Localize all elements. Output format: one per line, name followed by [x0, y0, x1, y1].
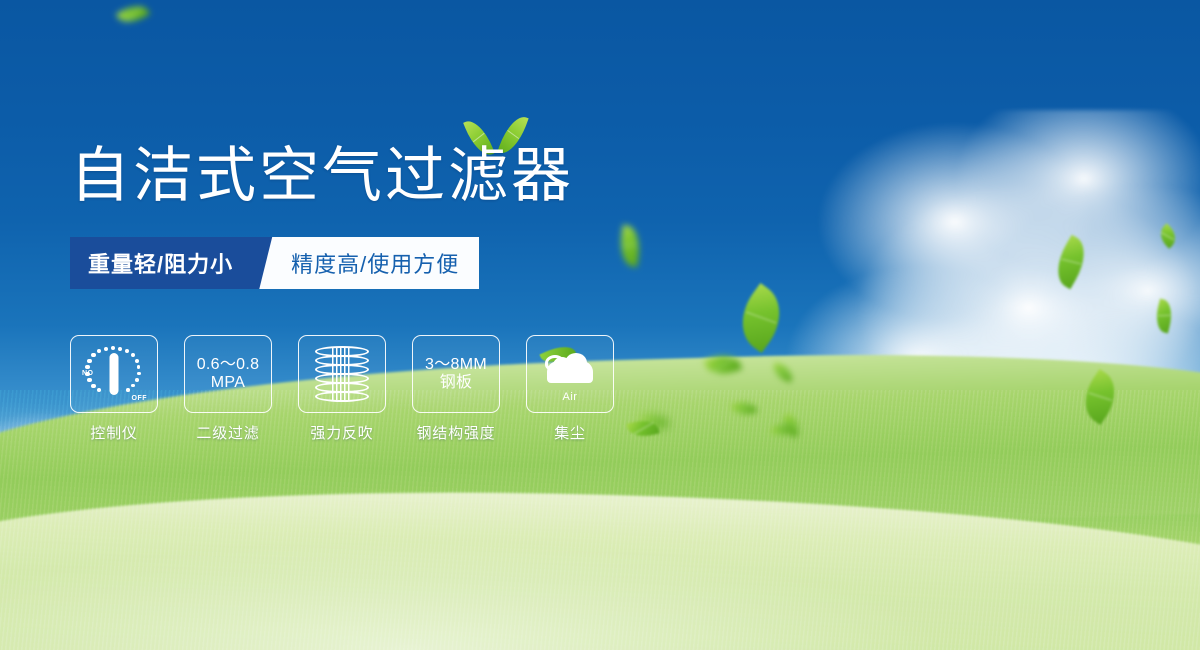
feature-list: NO OFF 控制仪 0.6～0.8 MPA 二级过滤 — [70, 335, 614, 443]
pressure-text-icon: 0.6～0.8 MPA — [197, 356, 260, 392]
subtitle-bar: 重量轻/阻力小 精度高/使用方便 — [70, 237, 479, 289]
feature-caption: 集尘 — [554, 422, 586, 443]
feature-item-control[interactable]: NO OFF 控制仪 — [70, 335, 158, 443]
subtitle-right-segment: 精度高/使用方便 — [285, 237, 479, 289]
feature-item-filter[interactable]: 0.6～0.8 MPA 二级过滤 — [184, 335, 272, 443]
feature-caption: 控制仪 — [90, 422, 137, 443]
feature-text-line2: 钢板 — [425, 374, 487, 392]
cloud-swirl — [545, 355, 565, 371]
page-title: 自洁式空气过滤器 — [70, 146, 574, 206]
feature-icon-box: Air — [526, 335, 614, 413]
feature-caption: 二级过滤 — [196, 422, 259, 443]
feature-item-dust[interactable]: Air 集尘 — [526, 335, 614, 443]
subtitle-divider — [251, 237, 285, 289]
gauge-needle — [110, 353, 119, 395]
steel-text-icon: 3～8MM 钢板 — [425, 356, 487, 392]
feature-caption: 强力反吹 — [310, 422, 373, 443]
subtitle-left-segment: 重量轻/阻力小 — [70, 237, 251, 289]
feature-text-line2: MPA — [197, 374, 260, 392]
air-cloud-icon: Air — [539, 347, 601, 401]
gauge-icon: NO OFF — [83, 344, 145, 404]
air-label: Air — [539, 391, 601, 403]
feature-text-line1: 3～8MM — [425, 356, 487, 373]
feature-icon-box: NO OFF — [70, 335, 158, 413]
gauge-label-off: OFF — [132, 395, 148, 402]
feature-caption: 钢结构强度 — [416, 422, 495, 443]
feature-item-steel[interactable]: 3～8MM 钢板 钢结构强度 — [412, 335, 500, 443]
feature-item-blowback[interactable]: 强力反吹 — [298, 335, 386, 443]
product-banner: 自洁式空气过滤器 重量轻/阻力小 精度高/使用方便 — [0, 0, 1200, 650]
feature-icon-box — [298, 335, 386, 413]
blowback-icon — [315, 345, 369, 403]
gauge-label-no: NO — [82, 370, 94, 377]
feature-text-line1: 0.6～0.8 — [197, 356, 260, 373]
grass-sheen — [0, 500, 1200, 650]
feature-icon-box: 3～8MM 钢板 — [412, 335, 500, 413]
feature-icon-box: 0.6～0.8 MPA — [184, 335, 272, 413]
